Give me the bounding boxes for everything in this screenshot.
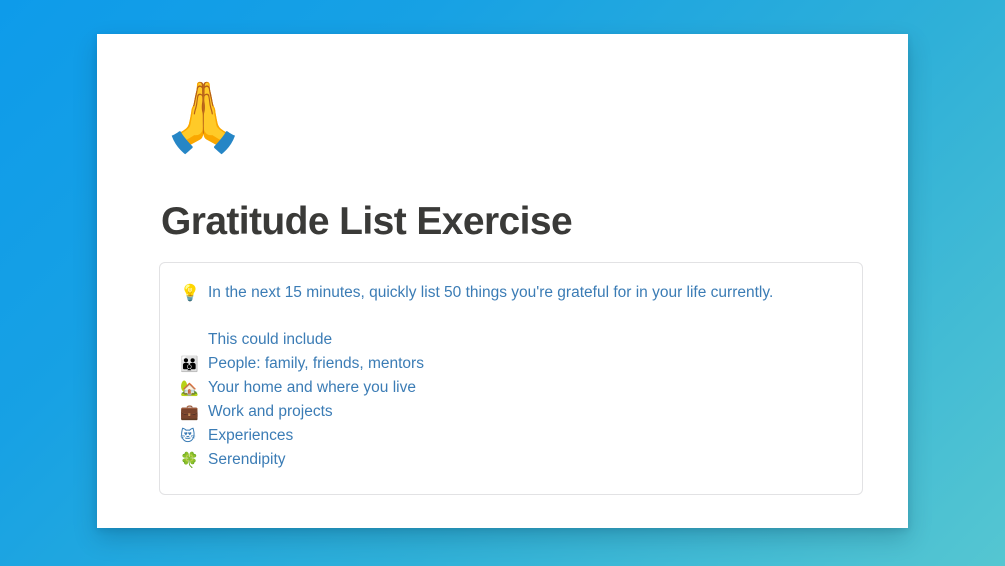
list-item: 🏡 Your home and where you live [180,376,842,400]
list-item: 💼 Work and projects [180,400,842,424]
instructions-callout: 💡 In the next 15 minutes, quickly list 5… [159,262,863,495]
heart-eyes-cat-emoji: 😻 [180,424,208,448]
family-emoji: 👪 [180,352,208,376]
document-content: 🙏 Gratitude List Exercise 💡 In the next … [161,34,866,528]
briefcase-emoji: 💼 [180,400,208,424]
list-item: 🍀 Serendipity [180,448,842,472]
callout-intro-row: 💡 In the next 15 minutes, quickly list 5… [180,281,842,305]
list-item-label: People: family, friends, mentors [208,352,842,376]
list-item-label: Experiences [208,424,842,448]
four-leaf-clover-emoji: 🍀 [180,448,208,472]
document-card: 🙏 Gratitude List Exercise 💡 In the next … [97,34,908,528]
page-viewport: 🙏 Gratitude List Exercise 💡 In the next … [0,0,1005,566]
light-bulb-icon: 💡 [180,281,208,305]
callout-intro-text: In the next 15 minutes, quickly list 50 … [208,281,842,305]
list-item-label: Work and projects [208,400,842,424]
callout-spacer [180,305,842,328]
house-with-garden-emoji: 🏡 [180,376,208,400]
list-item-label: Your home and where you live [208,376,842,400]
list-heading: This could include [180,328,842,352]
suggestion-list: 👪 People: family, friends, mentors 🏡 You… [180,352,842,472]
list-item: 👪 People: family, friends, mentors [180,352,842,376]
page-title: Gratitude List Exercise [161,200,572,244]
list-item-label: Serendipity [208,448,842,472]
list-item: 😻 Experiences [180,424,842,448]
praying-hands-emoji: 🙏 [161,84,246,152]
